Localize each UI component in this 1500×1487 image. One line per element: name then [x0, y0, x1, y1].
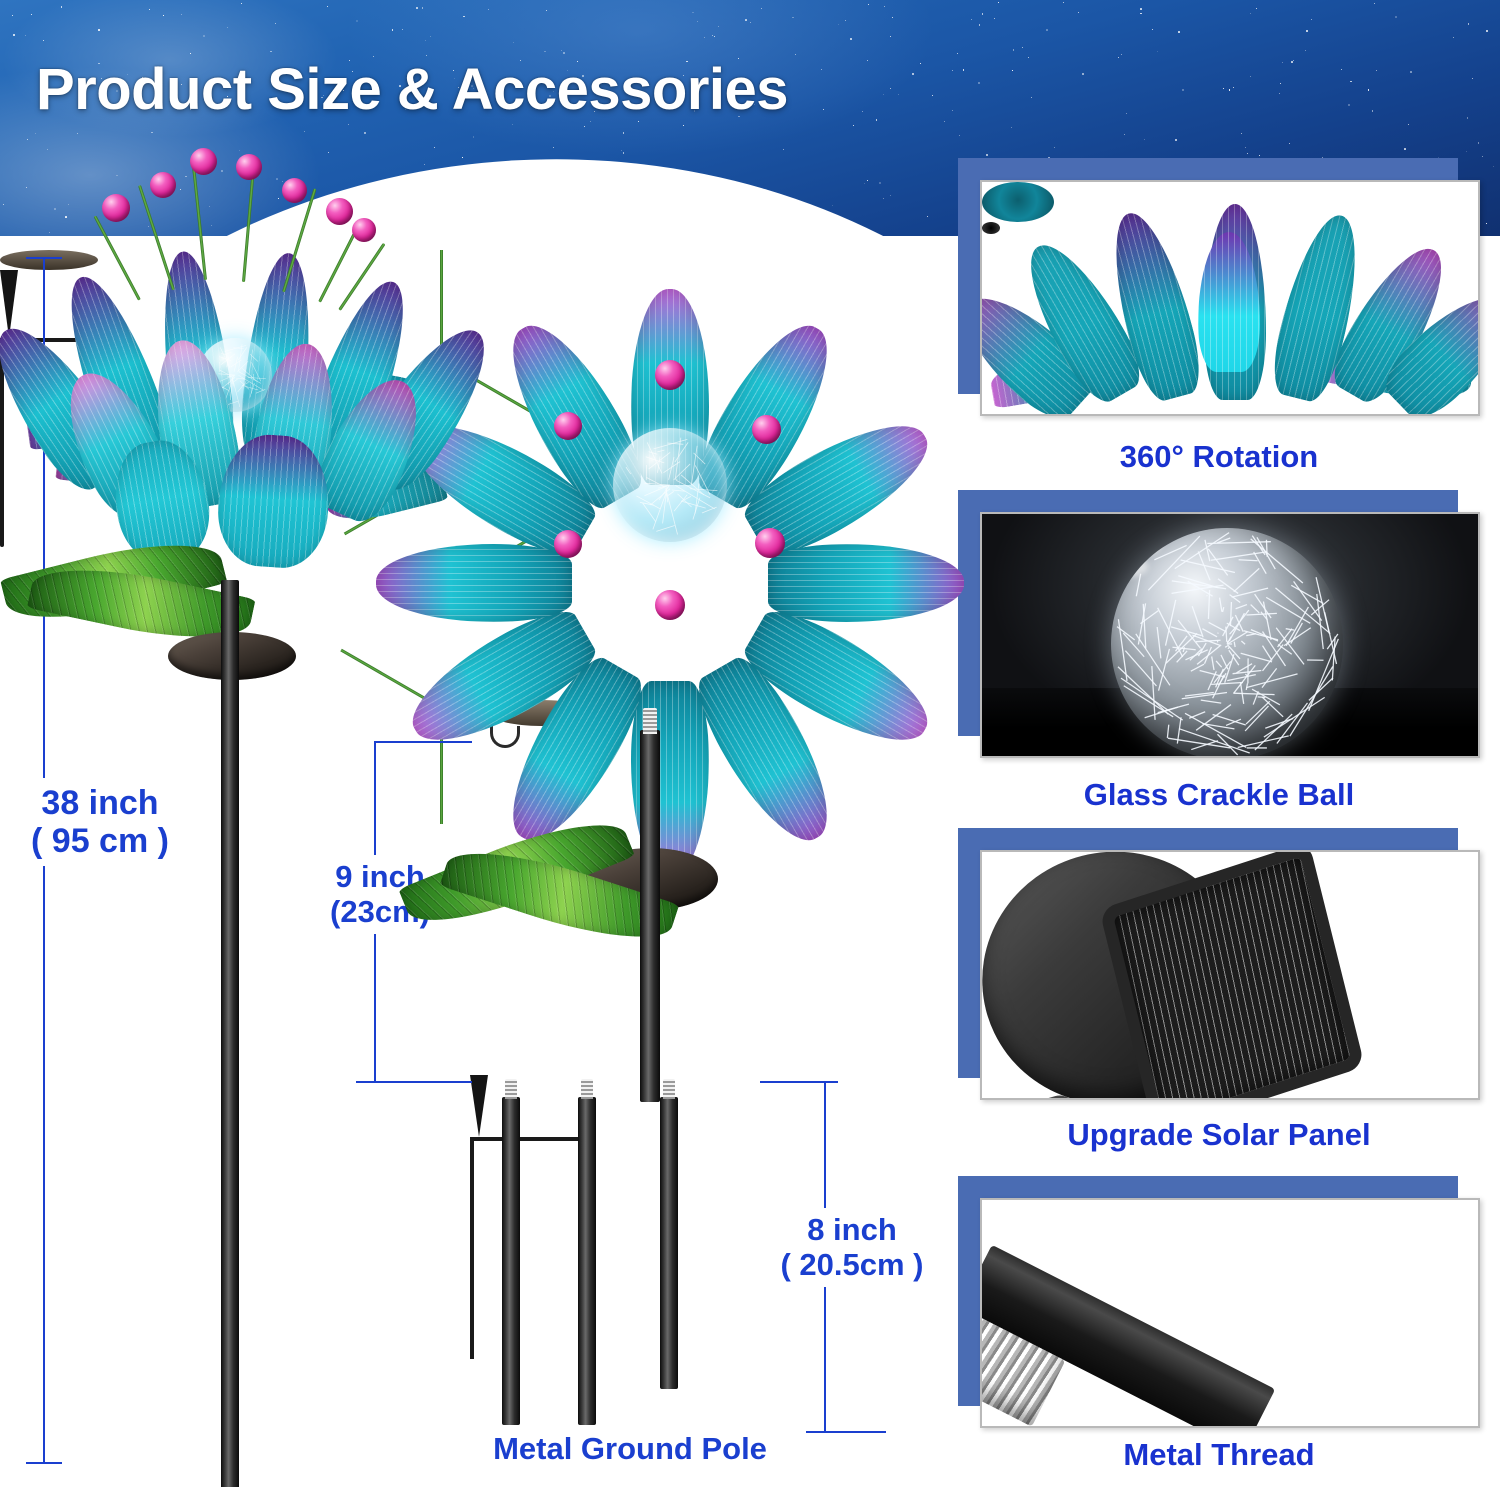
star [473, 136, 474, 137]
star [209, 206, 210, 207]
crackle-sphere [1111, 528, 1343, 758]
star [35, 133, 36, 134]
lotus-underside-image [982, 182, 1478, 414]
threaded-pole-assembly [980, 1245, 1411, 1428]
star [1259, 155, 1260, 156]
infographic-canvas: Product Size & Accessories 38 inch ( 95 … [0, 0, 1500, 1487]
star [1468, 23, 1470, 25]
panel-photo-crackle [980, 512, 1480, 758]
star [1372, 110, 1374, 112]
star [239, 150, 241, 152]
star [1140, 8, 1142, 10]
star [364, 132, 365, 133]
star [356, 20, 358, 22]
star [952, 110, 953, 111]
star [1046, 29, 1048, 31]
star [1482, 156, 1483, 157]
star [463, 16, 465, 18]
star [683, 125, 684, 126]
star [704, 37, 705, 38]
star [1247, 153, 1248, 154]
star [185, 176, 186, 177]
star [1022, 47, 1023, 48]
panel-photo-thread [980, 1198, 1480, 1428]
dim-metric-pole: ( 20.5cm ) [752, 1248, 952, 1283]
star [879, 182, 881, 184]
star [348, 124, 349, 125]
star [1144, 139, 1145, 140]
star [61, 6, 63, 8]
star [867, 180, 868, 181]
star [1410, 71, 1412, 73]
star [31, 14, 32, 15]
star [1140, 13, 1142, 15]
base-wire-loop [490, 726, 520, 748]
star [1404, 148, 1406, 150]
star [1124, 134, 1125, 135]
star [1223, 88, 1224, 89]
berry-stamen [352, 218, 376, 242]
star [43, 40, 44, 41]
star [392, 29, 394, 31]
star [783, 149, 784, 150]
star [584, 126, 585, 127]
star [425, 40, 426, 41]
star [1289, 143, 1290, 144]
berry-stamen [150, 172, 176, 198]
star [430, 36, 431, 37]
star [1152, 29, 1153, 30]
berry-stamen [554, 530, 582, 558]
star [1012, 70, 1013, 71]
caption-metal-thread: Metal Thread [958, 1438, 1480, 1473]
star [327, 6, 328, 7]
star [513, 42, 514, 43]
star [714, 36, 715, 37]
solar-panel-base-image [982, 852, 1478, 1098]
star [180, 189, 181, 190]
star [1028, 57, 1030, 59]
star [718, 26, 719, 27]
star [553, 147, 555, 149]
star [1293, 60, 1294, 61]
feature-panel-solar[interactable] [958, 828, 1480, 1100]
star [1126, 113, 1127, 114]
star [434, 147, 435, 148]
berry-stamen [752, 415, 781, 444]
star [1082, 73, 1084, 75]
dim-label-total-height: 38 inch ( 95 cm ) [0, 778, 200, 866]
panel-photo-rotation [980, 180, 1480, 416]
star [1011, 127, 1012, 128]
ground-pole-thread-3 [663, 1079, 675, 1099]
star [890, 88, 891, 89]
glass-crackle-ball [613, 428, 727, 542]
star [845, 20, 846, 21]
star [1245, 147, 1246, 148]
star [1306, 30, 1308, 32]
star [190, 53, 191, 54]
star [1031, 97, 1032, 98]
rotation-pivot-hole [982, 222, 1000, 234]
star [1157, 51, 1158, 52]
star [151, 132, 153, 134]
star [712, 35, 713, 36]
star [65, 216, 67, 218]
star [1408, 124, 1409, 125]
star [692, 12, 694, 14]
star [1486, 223, 1487, 224]
ground-bracket-leg [470, 1141, 474, 1359]
star [1178, 31, 1180, 33]
star [26, 187, 27, 188]
star [1472, 78, 1473, 79]
caption-rotation: 360° Rotation [958, 440, 1480, 475]
star [12, 15, 13, 16]
star [54, 208, 56, 210]
feature-panel-thread[interactable] [958, 1176, 1480, 1428]
feature-panel-rotation[interactable] [958, 158, 1480, 416]
star [68, 204, 69, 205]
star [544, 51, 546, 53]
star [1121, 54, 1122, 55]
dim-cap-total-bottom [26, 1462, 62, 1464]
star [982, 13, 984, 15]
dim-cap-pole-top [760, 1081, 838, 1083]
star [416, 7, 418, 9]
caption-metal-ground-pole: Metal Ground Pole [420, 1432, 840, 1467]
star [1182, 89, 1184, 91]
star [1241, 133, 1242, 134]
star [998, 2, 999, 3]
star [116, 175, 118, 177]
star [1341, 69, 1342, 70]
star [1233, 87, 1234, 88]
star [148, 226, 149, 227]
star [1250, 13, 1251, 14]
star [1013, 49, 1014, 50]
star [1395, 16, 1397, 18]
star [1368, 89, 1370, 91]
star [304, 131, 305, 132]
star [832, 205, 833, 206]
star [1348, 104, 1350, 106]
star [1054, 147, 1055, 148]
star [422, 7, 424, 9]
star [282, 181, 283, 182]
star [1256, 8, 1257, 9]
dim-value-pole: 8 inch [752, 1213, 952, 1248]
star [1453, 37, 1454, 38]
star [745, 19, 747, 21]
star [3, 204, 4, 205]
star [623, 152, 625, 154]
specular-highlight [1111, 528, 1162, 556]
star [883, 94, 884, 95]
ground-pole-thread-1 [505, 1079, 517, 1099]
star [697, 21, 698, 22]
star [181, 14, 182, 15]
product-daisy-flower-head [440, 250, 910, 730]
star [241, 3, 242, 4]
star [978, 82, 980, 84]
star [621, 150, 622, 151]
star [512, 124, 514, 126]
star [1305, 50, 1306, 51]
star [276, 178, 278, 180]
ground-pole-1 [502, 1097, 520, 1425]
star [278, 198, 279, 199]
star [1229, 89, 1231, 91]
crackle-glass-sphere-image [982, 514, 1478, 756]
dim-value-total: 38 inch [0, 784, 200, 822]
star [876, 119, 878, 121]
star [1478, 142, 1480, 144]
star [203, 35, 205, 37]
star [853, 125, 854, 126]
star [892, 17, 893, 18]
star [750, 22, 751, 23]
star [986, 154, 988, 156]
star [1279, 93, 1280, 94]
ground-pole-thread-2 [581, 1079, 593, 1099]
star [884, 6, 885, 7]
star [957, 53, 958, 54]
star [823, 109, 824, 110]
star [546, 10, 547, 11]
star [792, 17, 794, 19]
star [25, 35, 26, 36]
star [867, 60, 868, 61]
star [927, 216, 928, 217]
dim-cap-stem-top [374, 741, 472, 743]
star [27, 139, 29, 141]
star [221, 170, 223, 172]
star [883, 198, 884, 199]
star [971, 19, 972, 20]
star [912, 73, 914, 75]
main-pole [221, 580, 239, 1487]
caption-crackle-ball: Glass Crackle Ball [958, 778, 1480, 813]
star [1376, 70, 1377, 71]
star [275, 23, 276, 24]
star [13, 34, 15, 36]
star [1291, 61, 1293, 63]
star [211, 225, 212, 226]
star [1486, 30, 1488, 32]
star [1311, 19, 1312, 20]
star [821, 69, 822, 70]
star [1350, 81, 1351, 82]
berry-stamen [102, 194, 130, 222]
star [49, 232, 51, 234]
berry-stamen [655, 360, 685, 390]
page-title: Product Size & Accessories [36, 56, 788, 123]
ground-bracket-arm [470, 1137, 582, 1141]
crackle-pattern [613, 428, 727, 542]
star [868, 4, 869, 5]
star [402, 29, 403, 30]
star [944, 121, 945, 122]
star [623, 132, 625, 134]
star [1118, 57, 1119, 58]
star [890, 36, 891, 37]
berry-stamen [554, 412, 582, 440]
stem-pole-thread [643, 708, 657, 734]
product-ground-poles [470, 1075, 800, 1425]
dim-cap-stem-bottom [356, 1081, 472, 1083]
star [963, 69, 964, 70]
star [462, 157, 463, 158]
berry-stamen [655, 590, 685, 620]
star [1280, 83, 1281, 84]
star [77, 133, 78, 134]
caption-solar-panel: Upgrade Solar Panel [958, 1118, 1480, 1153]
star [1175, 139, 1177, 141]
secondary-highlight [1111, 556, 1148, 577]
star [563, 52, 565, 54]
dim-metric-total: ( 95 cm ) [0, 822, 200, 860]
threaded-pole-image [982, 1200, 1478, 1426]
berry-stamen [190, 148, 217, 175]
star [163, 15, 164, 16]
dim-cap-total-top [26, 257, 62, 259]
star [1466, 151, 1467, 152]
ground-pole-2 [578, 1097, 596, 1425]
star [761, 8, 762, 9]
star [1282, 62, 1283, 63]
berry-stamen [236, 154, 262, 180]
star [561, 50, 562, 51]
star [932, 95, 933, 96]
feature-panel-crackle-ball[interactable] [958, 490, 1480, 758]
star [1493, 166, 1494, 167]
stem-pole [640, 730, 660, 1102]
berry-stamen [282, 178, 307, 203]
star [952, 70, 953, 71]
star [864, 183, 865, 184]
panel-photo-solar [980, 850, 1480, 1100]
star [270, 51, 272, 53]
star [994, 18, 995, 19]
ground-pole-spike [470, 1075, 488, 1137]
star [959, 135, 960, 136]
star [227, 27, 228, 28]
star [890, 195, 891, 196]
star [838, 24, 839, 25]
star [98, 29, 100, 31]
star [1250, 76, 1251, 77]
star [898, 94, 899, 95]
star [1063, 2, 1064, 3]
star [979, 24, 980, 25]
berry-stamen [326, 198, 353, 225]
rotation-hub [982, 182, 1054, 222]
star [424, 164, 425, 165]
dim-label-pole-segment: 8 inch ( 20.5cm ) [752, 1208, 952, 1287]
ground-pole-3 [660, 1097, 678, 1389]
star [47, 149, 48, 150]
star [795, 54, 796, 55]
star [862, 111, 863, 112]
star [850, 38, 852, 40]
star [1467, 117, 1469, 119]
star [149, 9, 150, 10]
solar-cell-top [0, 250, 98, 270]
star [488, 9, 489, 10]
